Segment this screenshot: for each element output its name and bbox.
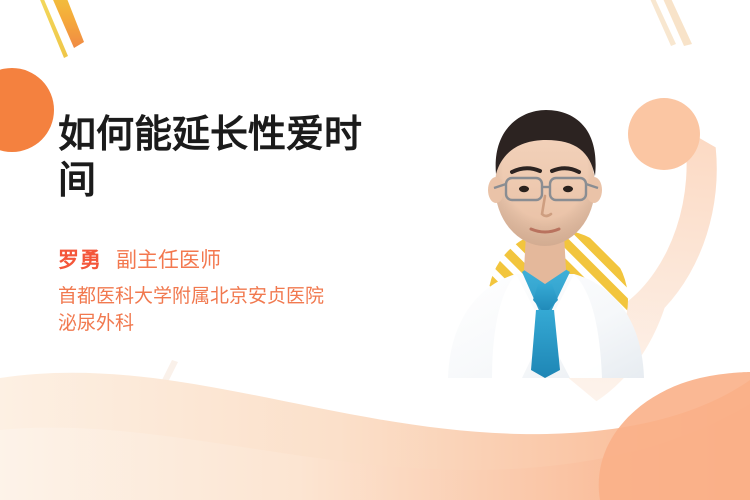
doctor-hospital: 首都医科大学附属北京安贞医院 [58, 283, 438, 310]
doctor-name: 罗勇 [58, 249, 102, 272]
bottom-wave-front [0, 404, 750, 500]
top-left-stripes [36, 0, 84, 58]
doctor-name-row: 罗勇副主任医师 [58, 246, 438, 276]
doctor-info: 罗勇副主任医师 首都医科大学附属北京安贞医院 泌尿外科 [58, 246, 438, 337]
bottom-wave-back [0, 373, 750, 500]
doctor-rank: 副主任医师 [116, 249, 221, 272]
doctor-photo [430, 78, 660, 378]
doctor-portrait-illustration [430, 78, 660, 378]
accent-stripe-small [154, 360, 178, 398]
page-title: 如何能延长性爱时 间 [58, 112, 418, 204]
orange-circle-decor [0, 68, 54, 152]
bottom-right-blob [599, 372, 750, 500]
top-right-stripes [647, 0, 692, 46]
doctor-department: 泌尿外科 [58, 310, 438, 337]
promo-card: 如何能延长性爱时 间 罗勇副主任医师 首都医科大学附属北京安贞医院 泌尿外科 [0, 0, 750, 500]
